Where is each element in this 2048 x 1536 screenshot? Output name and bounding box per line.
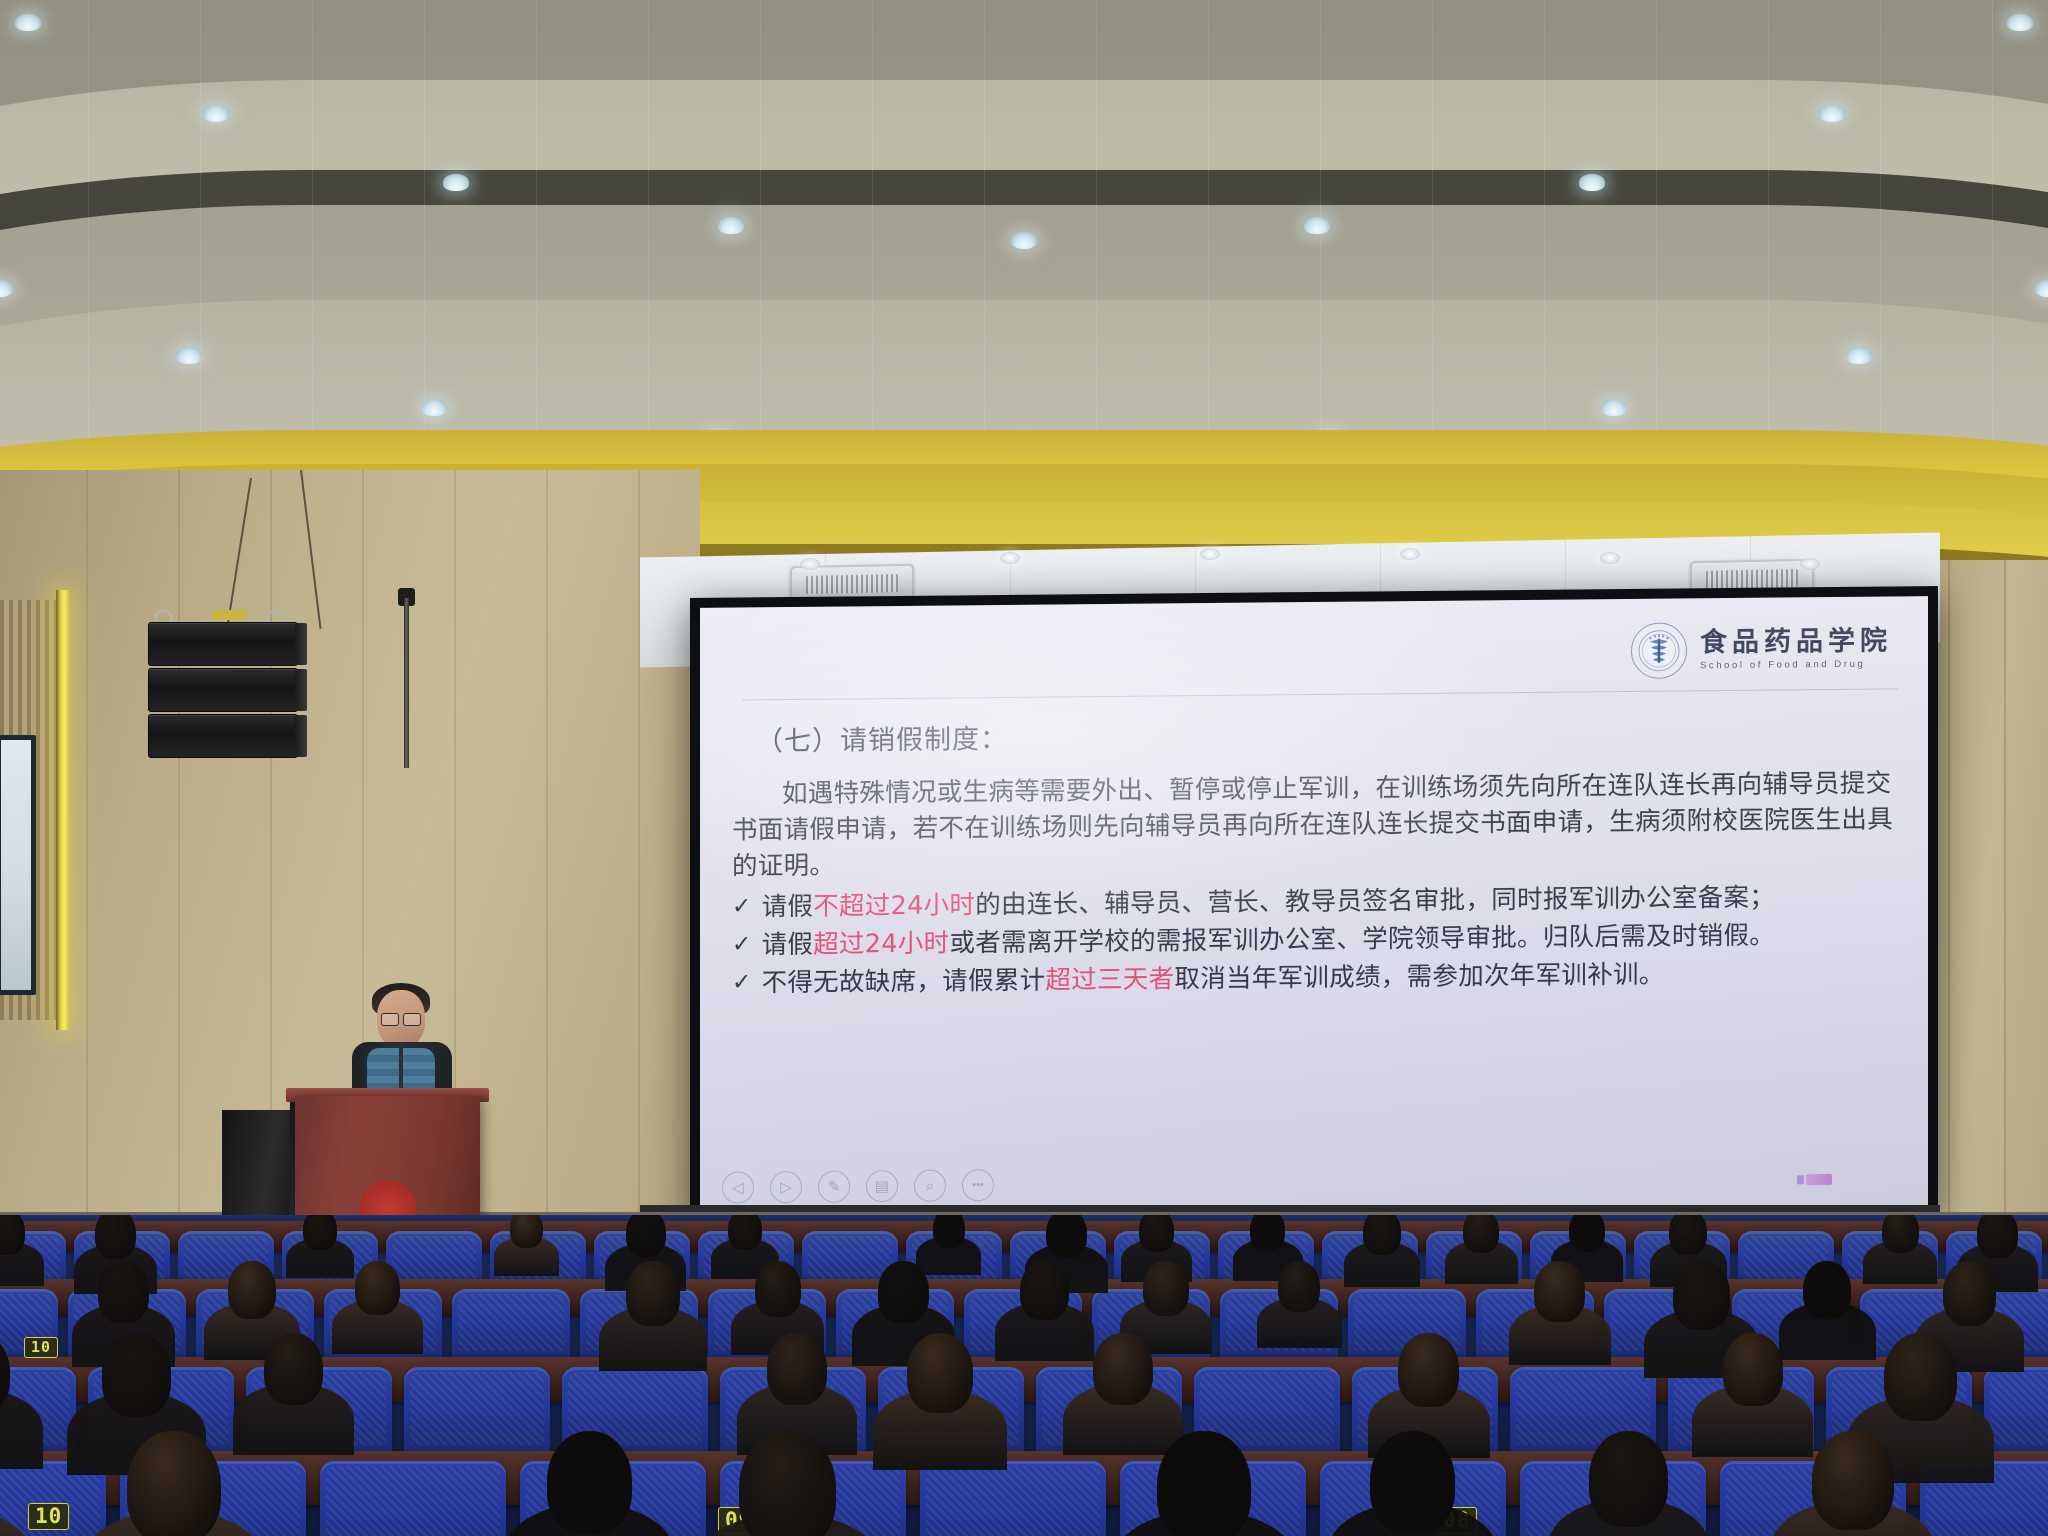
next-slide-icon[interactable]: ▷	[770, 1171, 802, 1203]
more-options-icon[interactable]: •••	[962, 1169, 994, 1201]
ceiling-spotlight	[1601, 399, 1627, 416]
audience-head	[907, 1333, 973, 1413]
slide-body: （七）请销假制度： 如遇特殊情况或生病等需要外出、暂停或停止军训，在训练场须先向…	[732, 708, 1904, 1001]
school-crest-icon	[1631, 622, 1687, 679]
audience-head	[1370, 1431, 1454, 1533]
audience-head	[1669, 1215, 1707, 1255]
audience-head	[1882, 1215, 1919, 1253]
audience-head	[1093, 1333, 1153, 1405]
audience-head	[127, 1431, 221, 1536]
audience-head	[878, 1261, 929, 1323]
audience-seat[interactable]	[1984, 1367, 2048, 1453]
ceiling-spotlight	[718, 217, 744, 234]
audience-seat[interactable]	[452, 1289, 570, 1359]
slide-divider	[742, 688, 1898, 700]
slide-watermark-dot	[1797, 1175, 1804, 1184]
audience-head	[1250, 1215, 1285, 1251]
audience-head	[98, 1261, 149, 1323]
wall-seam	[1948, 560, 1950, 1260]
ceiling-spotlight	[1304, 217, 1330, 234]
audience-head	[1143, 1261, 1188, 1316]
ceiling-downlight	[1000, 552, 1020, 564]
audience-head	[739, 1431, 836, 1536]
audience-head	[755, 1261, 801, 1317]
highlighted-text: 不超过24小时	[813, 890, 975, 922]
ceiling-downlight	[800, 558, 820, 570]
audience-head	[547, 1431, 632, 1534]
slide-watermark	[1806, 1174, 1832, 1185]
ceiling-spotlight	[203, 105, 229, 122]
audience-head	[303, 1215, 337, 1250]
audience-head	[102, 1333, 171, 1417]
plain-text: 或者需离开学校的需报军训办公室、学院领导审批。归队后需及时销假。	[949, 920, 1775, 958]
seat-number-plate: 10	[28, 1503, 69, 1530]
ceiling-spotlight	[15, 14, 41, 31]
auditorium-photo: 食品药品学院 School of Food and Drug （七）请销假制度：…	[0, 0, 2048, 1536]
wall-seam	[86, 470, 88, 1230]
audience-head	[1884, 1333, 1957, 1421]
plain-text: 请假	[762, 930, 814, 960]
zoom-tool-icon[interactable]: ⌕	[914, 1170, 946, 1202]
wall-display-panel	[0, 735, 36, 995]
ceiling-downlight	[1400, 548, 1420, 560]
ceiling-spotlight	[2035, 280, 2048, 297]
plain-text: 请假	[762, 891, 814, 921]
audience-head	[1278, 1261, 1320, 1312]
seat-number-plate: 10	[24, 1337, 58, 1358]
audience-seating: 10100908	[0, 1215, 2048, 1536]
audience-head	[95, 1215, 136, 1259]
speaker-module	[148, 714, 298, 758]
projection-screen-frame: 食品药品学院 School of Food and Drug （七）请销假制度：…	[690, 586, 1938, 1228]
audience-head	[1046, 1215, 1087, 1258]
highlighted-text: 超过三天者	[1045, 964, 1174, 995]
ceiling-spotlight	[176, 347, 202, 364]
speaker-module	[148, 622, 298, 666]
audience-head	[1363, 1215, 1401, 1255]
wall-seam	[546, 470, 548, 1230]
ceiling-spotlight	[1011, 232, 1037, 249]
audience-head	[1589, 1431, 1669, 1527]
ceiling-spotlight	[2007, 14, 2033, 31]
logo-text-en: School of Food and Drug	[1700, 660, 1892, 671]
audience-head	[1812, 1431, 1894, 1530]
audience-head	[728, 1215, 762, 1250]
audience-head	[626, 1261, 680, 1326]
glasses-icon	[381, 1013, 421, 1024]
slide-paragraph: 如遇特殊情况或生病等需要外出、暂停或停止军训，在训练场须先向所在连队连长再向辅导…	[732, 765, 1904, 885]
slide-bullet-list: ✓请假不超过24小时的由连长、辅导员、营长、教导员签名审批，同时报军训办公室备案…	[732, 878, 1904, 1002]
highlighted-text: 超过24小时	[813, 928, 949, 959]
audience-head	[1723, 1333, 1783, 1406]
audience-head	[767, 1333, 826, 1405]
slide-logo: 食品药品学院 School of Food and Drug	[1631, 620, 1892, 679]
slide-grid-icon[interactable]: ▤	[866, 1170, 898, 1202]
wall-seam	[178, 470, 180, 1230]
audience-head	[228, 1261, 276, 1319]
ceiling-spotlight	[443, 174, 469, 191]
audience-head	[1398, 1333, 1459, 1407]
audience-head	[1157, 1431, 1251, 1536]
ceiling-downlight	[1800, 558, 1820, 570]
audience-seat[interactable]	[320, 1461, 506, 1536]
audience-head	[1569, 1215, 1605, 1252]
audience-head	[933, 1215, 965, 1248]
audience-head	[510, 1215, 542, 1248]
plain-text: 不得无故缺席，请假累计	[762, 966, 1046, 999]
audience-head	[1020, 1261, 1069, 1320]
audience-seat[interactable]	[920, 1461, 1106, 1536]
audience-seat[interactable]	[404, 1367, 550, 1453]
audience-head	[1463, 1215, 1499, 1253]
wall-seam	[2004, 560, 2006, 1260]
ceiling-downlight	[1600, 552, 1620, 564]
audience-head	[1803, 1261, 1851, 1319]
ppt-toolbar[interactable]: ◁▷✎▤⌕•••	[722, 1169, 994, 1204]
ceiling-spotlight	[1846, 347, 1872, 364]
wall-mic-stand	[404, 598, 409, 768]
audience-head	[1534, 1261, 1585, 1322]
audience-head	[1977, 1215, 2017, 1258]
ceiling-spotlight	[421, 399, 447, 416]
check-icon: ✓	[732, 889, 752, 925]
line-array-speaker	[148, 618, 296, 760]
projection-screen[interactable]: 食品药品学院 School of Food and Drug （七）请销假制度：…	[700, 596, 1928, 1218]
ceiling-spotlight	[1579, 174, 1605, 191]
audience-head	[626, 1215, 666, 1257]
speaker-module	[148, 668, 298, 712]
previous-slide-icon[interactable]: ◁	[722, 1171, 754, 1203]
speaker-tag	[212, 610, 246, 620]
audience-head	[355, 1261, 400, 1315]
pen-tool-icon[interactable]: ✎	[818, 1170, 850, 1202]
plain-text: 的由连长、辅导员、营长、教导员签名审批，同时报军训办公室备案；	[975, 882, 1775, 920]
audience-head	[1673, 1261, 1730, 1330]
plain-text: 取消当年军训成绩，需参加次年军训补训。	[1174, 960, 1664, 995]
check-icon: ✓	[732, 965, 752, 1001]
right-wall-wood	[1920, 560, 2048, 1260]
wall-accent-light	[56, 590, 70, 1030]
audience-head	[264, 1333, 324, 1405]
check-icon: ✓	[732, 927, 752, 963]
logo-text-cn: 食品药品学院	[1700, 628, 1892, 657]
ceiling-spotlight	[1819, 105, 1845, 122]
audience-head	[1139, 1215, 1174, 1252]
slide-title: （七）请销假制度：	[756, 708, 1904, 758]
audience-head	[1943, 1261, 1997, 1326]
ceiling-downlight	[1200, 548, 1220, 560]
